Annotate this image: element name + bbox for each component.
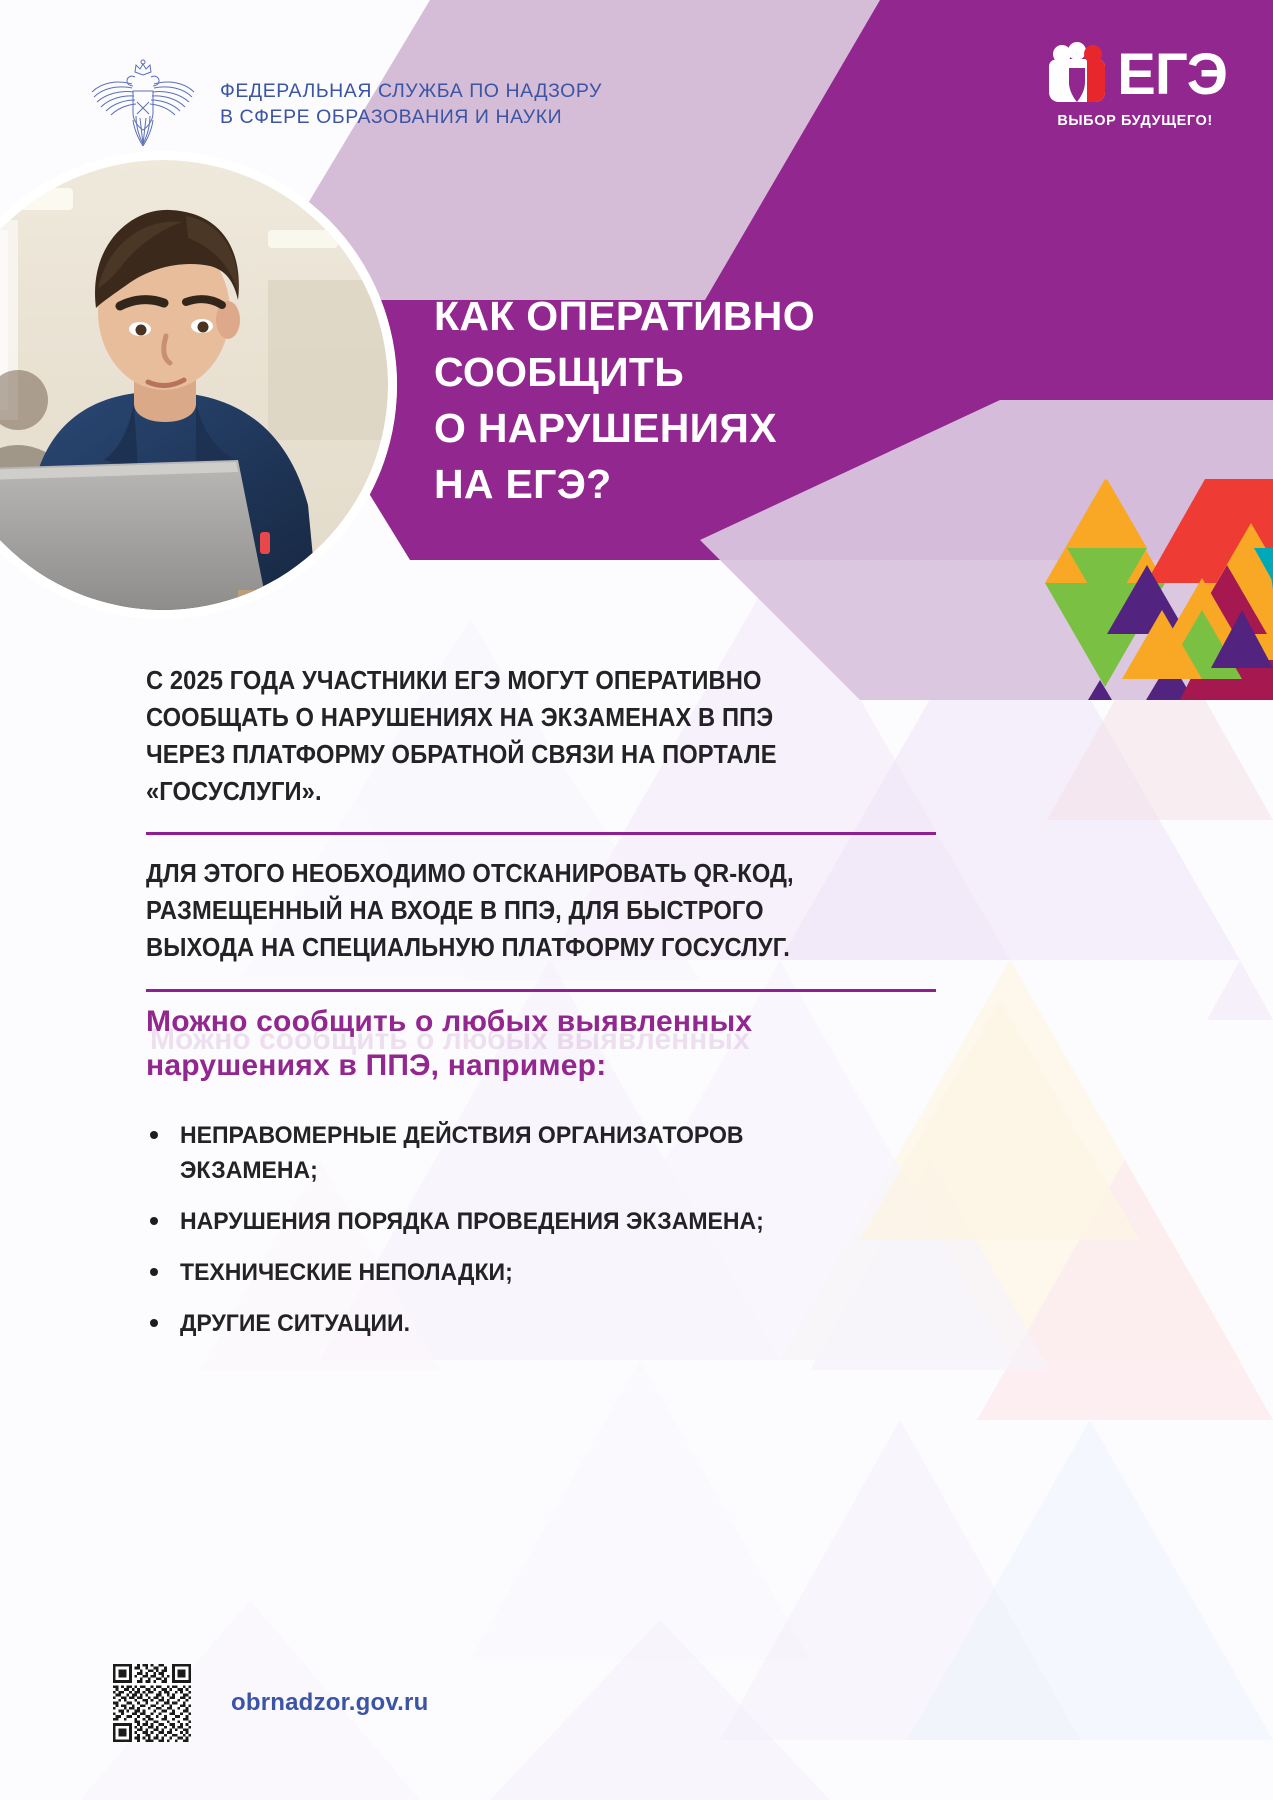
divider-1	[146, 832, 936, 835]
paragraph-1-line3: ЧЕРЕЗ ПЛАТФОРМУ ОБРАТНОЙ СВЯЗИ НА ПОРТАЛ…	[146, 737, 881, 774]
bullet-1-line1: НАРУШЕНИЯ ПОРЯДКА ПРОВЕДЕНИЯ ЭКЗАМЕНА;	[180, 1204, 764, 1239]
three-figures-icon	[1043, 42, 1111, 108]
gov-header-line2: В СФЕРЕ ОБРАЗОВАНИЯ И НАУКИ	[220, 104, 602, 130]
subheading: Можно сообщить о любых выявленных наруше…	[146, 1000, 752, 1088]
violation-types-list: НЕПРАВОМЕРНЫЕ ДЕЙСТВИЯ ОРГАНИЗАТОРОВ ЭКЗ…	[146, 1118, 946, 1357]
bullet-2-line1: ТЕХНИЧЕСКИЕ НЕПОЛАДКИ;	[180, 1255, 513, 1290]
paragraph-qr: ДЛЯ ЭТОГО НЕОБХОДИМО ОТСКАНИРОВАТЬ QR-КО…	[146, 856, 881, 967]
list-item: ДРУГИЕ СИТУАЦИИ.	[146, 1306, 946, 1341]
list-item: ТЕХНИЧЕСКИЕ НЕПОЛАДКИ;	[146, 1255, 946, 1290]
list-item-text: ТЕХНИЧЕСКИЕ НЕПОЛАДКИ;	[180, 1255, 513, 1290]
bullet-dot-icon	[150, 1268, 158, 1276]
gov-header: ФЕДЕРАЛЬНАЯ СЛУЖБА ПО НАДЗОРУ В СФЕРЕ ОБ…	[88, 58, 602, 150]
bullet-3-line1: ДРУГИЕ СИТУАЦИИ.	[180, 1306, 410, 1341]
paragraph-1-line4: «ГОСУСЛУГИ».	[146, 774, 881, 811]
website-url-link[interactable]: obrnadzor.gov.ru	[231, 1689, 428, 1717]
decor-triangles	[940, 400, 1273, 700]
qr-code-icon[interactable]	[113, 1664, 191, 1742]
paragraph-intro: С 2025 ГОДА УЧАСТНИКИ ЕГЭ МОГУТ ОПЕРАТИВ…	[146, 663, 881, 811]
headline-line2: СООБЩИТЬ	[434, 344, 815, 400]
list-item: НАРУШЕНИЯ ПОРЯДКА ПРОВЕДЕНИЯ ЭКЗАМЕНА;	[146, 1204, 946, 1239]
bullet-dot-icon	[150, 1217, 158, 1225]
poster-root: ФЕДЕРАЛЬНАЯ СЛУЖБА ПО НАДЗОРУ В СФЕРЕ ОБ…	[0, 0, 1273, 1800]
headline-line4: НА ЕГЭ?	[434, 456, 815, 512]
subheading-line2: нарушениях в ППЭ, например:	[146, 1044, 752, 1088]
ege-logo: ЕГЭ ВЫБОР БУДУЩЕГО!	[1043, 42, 1227, 129]
body-content: С 2025 ГОДА УЧАСТНИКИ ЕГЭ МОГУТ ОПЕРАТИВ…	[146, 663, 936, 992]
list-item-text: НАРУШЕНИЯ ПОРЯДКА ПРОВЕДЕНИЯ ЭКЗАМЕНА;	[180, 1204, 764, 1239]
ege-logo-word: ЕГЭ	[1117, 46, 1227, 104]
page-title: КАК ОПЕРАТИВНО СООБЩИТЬ О НАРУШЕНИЯХ НА …	[434, 288, 815, 512]
bullet-dot-icon	[150, 1319, 158, 1327]
paragraph-2-line1: ДЛЯ ЭТОГО НЕОБХОДИМО ОТСКАНИРОВАТЬ QR-КО…	[146, 856, 881, 893]
paragraph-1-line2: СООБЩАТЬ О НАРУШЕНИЯХ НА ЭКЗАМЕНАХ В ППЭ	[146, 700, 881, 737]
gov-header-title: ФЕДЕРАЛЬНАЯ СЛУЖБА ПО НАДЗОРУ В СФЕРЕ ОБ…	[220, 78, 602, 130]
list-item: НЕПРАВОМЕРНЫЕ ДЕЙСТВИЯ ОРГАНИЗАТОРОВ ЭКЗ…	[146, 1118, 946, 1188]
paragraph-2-line2: РАЗМЕЩЕННЫЙ НА ВХОДЕ В ППЭ, ДЛЯ БЫСТРОГО	[146, 893, 881, 930]
paragraph-2-line3: ВЫХОДА НА СПЕЦИАЛЬНУЮ ПЛАТФОРМУ ГОСУСЛУГ…	[146, 930, 881, 967]
divider-2	[146, 989, 936, 992]
headline-line3: О НАРУШЕНИЯХ	[434, 400, 815, 456]
subheading-line1: Можно сообщить о любых выявленных	[146, 1000, 752, 1044]
bullet-0-line2: ЭКЗАМЕНА;	[180, 1153, 744, 1188]
ege-logo-tagline: ВЫБОР БУДУЩЕГО!	[1043, 113, 1227, 129]
bullet-dot-icon	[150, 1131, 158, 1139]
headline-line1: КАК ОПЕРАТИВНО	[434, 288, 815, 344]
list-item-text: НЕПРАВОМЕРНЫЕ ДЕЙСТВИЯ ОРГАНИЗАТОРОВ ЭКЗ…	[180, 1118, 744, 1188]
double-headed-eagle-emblem-icon	[88, 58, 198, 150]
list-item-text: ДРУГИЕ СИТУАЦИИ.	[180, 1306, 410, 1341]
paragraph-1-line1: С 2025 ГОДА УЧАСТНИКИ ЕГЭ МОГУТ ОПЕРАТИВ…	[146, 663, 881, 700]
bullet-0-line1: НЕПРАВОМЕРНЫЕ ДЕЙСТВИЯ ОРГАНИЗАТОРОВ	[180, 1118, 744, 1153]
gov-header-line1: ФЕДЕРАЛЬНАЯ СЛУЖБА ПО НАДЗОРУ	[220, 78, 602, 104]
footer: obrnadzor.gov.ru	[113, 1664, 428, 1742]
